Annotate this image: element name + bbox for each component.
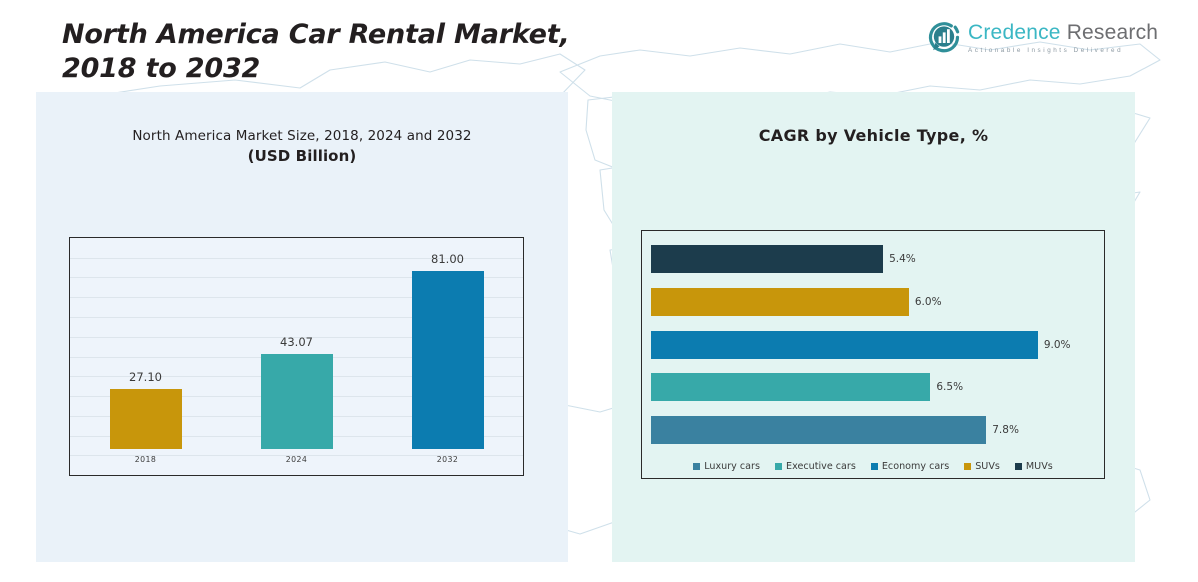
page-title: North America Car Rental Market, 2018 to… [62,18,622,86]
legend-label: MUVs [1026,461,1053,472]
bar-series: 5.4%6.0%9.0%6.5%7.8% [651,245,1098,444]
legend-item[interactable]: Executive cars [775,461,856,472]
credence-research-logo: Credence Research Actionable Insights De… [927,20,1158,54]
credence-bar-chart-circle-logo-icon [927,20,961,54]
horizontal-bar [651,288,909,316]
x-axis-labels: 201820242032 [70,449,523,475]
legend-swatch-icon [1015,463,1022,470]
legend-swatch-icon [693,463,700,470]
horizontal-bar [651,331,1038,359]
legend-label: Executive cars [786,461,856,472]
column-bar: 81.00 [412,271,484,449]
x-axis-tick-label: 2024 [221,449,372,475]
column-group: 27.10 [70,238,221,449]
legend-item[interactable]: Economy cars [871,461,949,472]
infographic-canvas: North America Car Rental Market, 2018 to… [0,0,1198,582]
legend-item[interactable]: MUVs [1015,461,1053,472]
column-group: 81.00 [372,238,523,449]
column-bar: 43.07 [261,354,333,449]
legend-item[interactable]: Luxury cars [693,461,760,472]
legend-label: SUVs [975,461,1000,472]
column-series: 27.1043.0781.00 [70,238,523,449]
horizontal-bar [651,416,986,444]
bar-value-label: 5.4% [889,253,916,265]
legend-item[interactable]: SUVs [964,461,1000,472]
bar-row: 6.5% [651,373,1098,401]
logo-word-research: Research [1061,21,1159,44]
bar-value-label: 6.5% [936,381,963,393]
column-value-label: 27.10 [129,370,162,384]
bar-value-label: 9.0% [1044,339,1071,351]
column-value-label: 81.00 [431,252,464,266]
legend-swatch-icon [964,463,971,470]
column-value-label: 43.07 [280,335,313,349]
bar-value-label: 6.0% [915,296,942,308]
x-axis-tick-label: 2032 [372,449,523,475]
bar-value-label: 7.8% [992,424,1019,436]
bar-row: 6.0% [651,288,1098,316]
horizontal-bar [651,245,883,273]
horizontal-bar [651,373,930,401]
left-chart-subtitle: North America Market Size, 2018, 2024 an… [36,128,568,144]
bar-row: 9.0% [651,331,1098,359]
right-chart-title: CAGR by Vehicle Type, % [612,126,1135,145]
legend-swatch-icon [871,463,878,470]
bar-row: 5.4% [651,245,1098,273]
column-group: 43.07 [221,238,372,449]
column-bar: 27.10 [110,389,182,449]
logo-word-credence: Credence [968,21,1061,44]
legend-label: Luxury cars [704,461,760,472]
legend-label: Economy cars [882,461,949,472]
x-axis-tick-label: 2018 [70,449,221,475]
bar-row: 7.8% [651,416,1098,444]
logo-wordmark: Credence Research Actionable Insights De… [968,20,1158,54]
cagr-by-vehicle-type-bar-chart: 5.4%6.0%9.0%6.5%7.8% Luxury carsExecutiv… [641,230,1105,479]
logo-tagline: Actionable Insights Delivered [968,47,1158,54]
market-size-column-chart: 27.1043.0781.00 201820242032 [69,237,524,476]
chart-legend: Luxury carsExecutive carsEconomy carsSUV… [642,461,1104,472]
legend-swatch-icon [775,463,782,470]
left-chart-units: (USD Billion) [36,147,568,165]
